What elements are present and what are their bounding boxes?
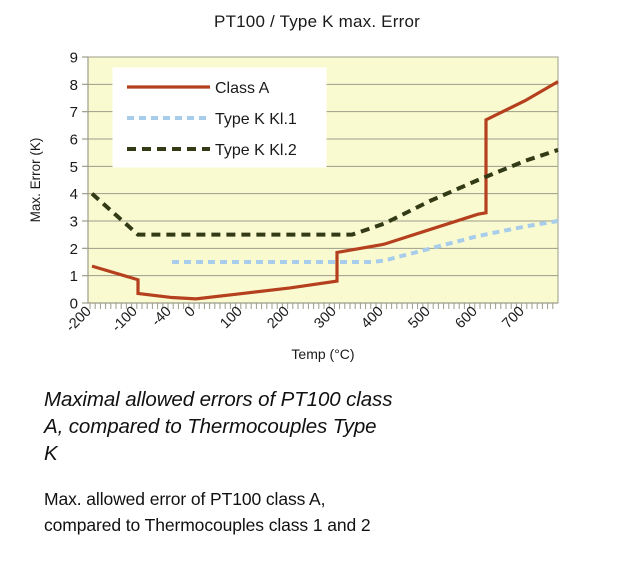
caption-block: Maximal allowed errors of PT100 classA, … (44, 386, 589, 538)
caption-plain: Max. allowed error of PT100 class A,comp… (44, 486, 589, 538)
x-tick-label: 200 (264, 304, 292, 332)
y-axis-tick-labels: 0123456789 (70, 50, 78, 313)
x-tick-label: 500 (405, 304, 433, 332)
x-tick-label: 400 (358, 304, 386, 332)
chart-figure: PT100 / Type K max. Error (0, 0, 634, 378)
x-tick-label: -100 (109, 304, 141, 336)
caption-line: A, compared to Thermocouples Type (44, 413, 589, 440)
x-tick-label: 0 (182, 304, 199, 321)
x-tick-label: 100 (217, 304, 245, 332)
y-tick-label: 8 (70, 77, 78, 94)
y-axis-title: Max. Error (K) (28, 138, 43, 223)
chart-svg: 0123456789 Max. Error (K) -200-100-40010… (0, 0, 634, 378)
legend-label: Type K Kl.1 (215, 111, 297, 128)
x-tick-label: 300 (311, 304, 339, 332)
legend-label: Class A (215, 80, 270, 97)
y-axis-ticks (82, 57, 88, 303)
x-axis-tick-labels: -200-100-400100200300400500600700 (63, 304, 528, 336)
legend-label: Type K Kl.2 (215, 142, 297, 159)
y-tick-label: 5 (70, 159, 78, 176)
y-tick-label: 9 (70, 50, 78, 67)
y-tick-label: 1 (70, 268, 78, 285)
x-axis-title: Temp (°C) (291, 346, 354, 362)
caption-italic: Maximal allowed errors of PT100 classA, … (44, 386, 589, 467)
y-tick-label: 4 (70, 186, 78, 203)
chart-legend: Class AType K Kl.1Type K Kl.2 (113, 68, 326, 167)
caption-line: Maximal allowed errors of PT100 class (44, 386, 589, 413)
caption-line: K (44, 440, 589, 467)
page-root: PT100 / Type K max. Error (0, 0, 634, 566)
y-tick-label: 3 (70, 214, 78, 231)
caption-line: Max. allowed error of PT100 class A, (44, 486, 589, 512)
y-tick-label: 6 (70, 132, 78, 149)
chart-canvas: 0123456789 Max. Error (K) -200-100-40010… (0, 0, 634, 378)
y-tick-label: 2 (70, 241, 78, 258)
y-tick-label: 7 (70, 104, 78, 121)
caption-line: compared to Thermocouples class 1 and 2 (44, 512, 589, 538)
x-tick-label: 700 (499, 304, 527, 332)
x-tick-label: 600 (452, 304, 480, 332)
